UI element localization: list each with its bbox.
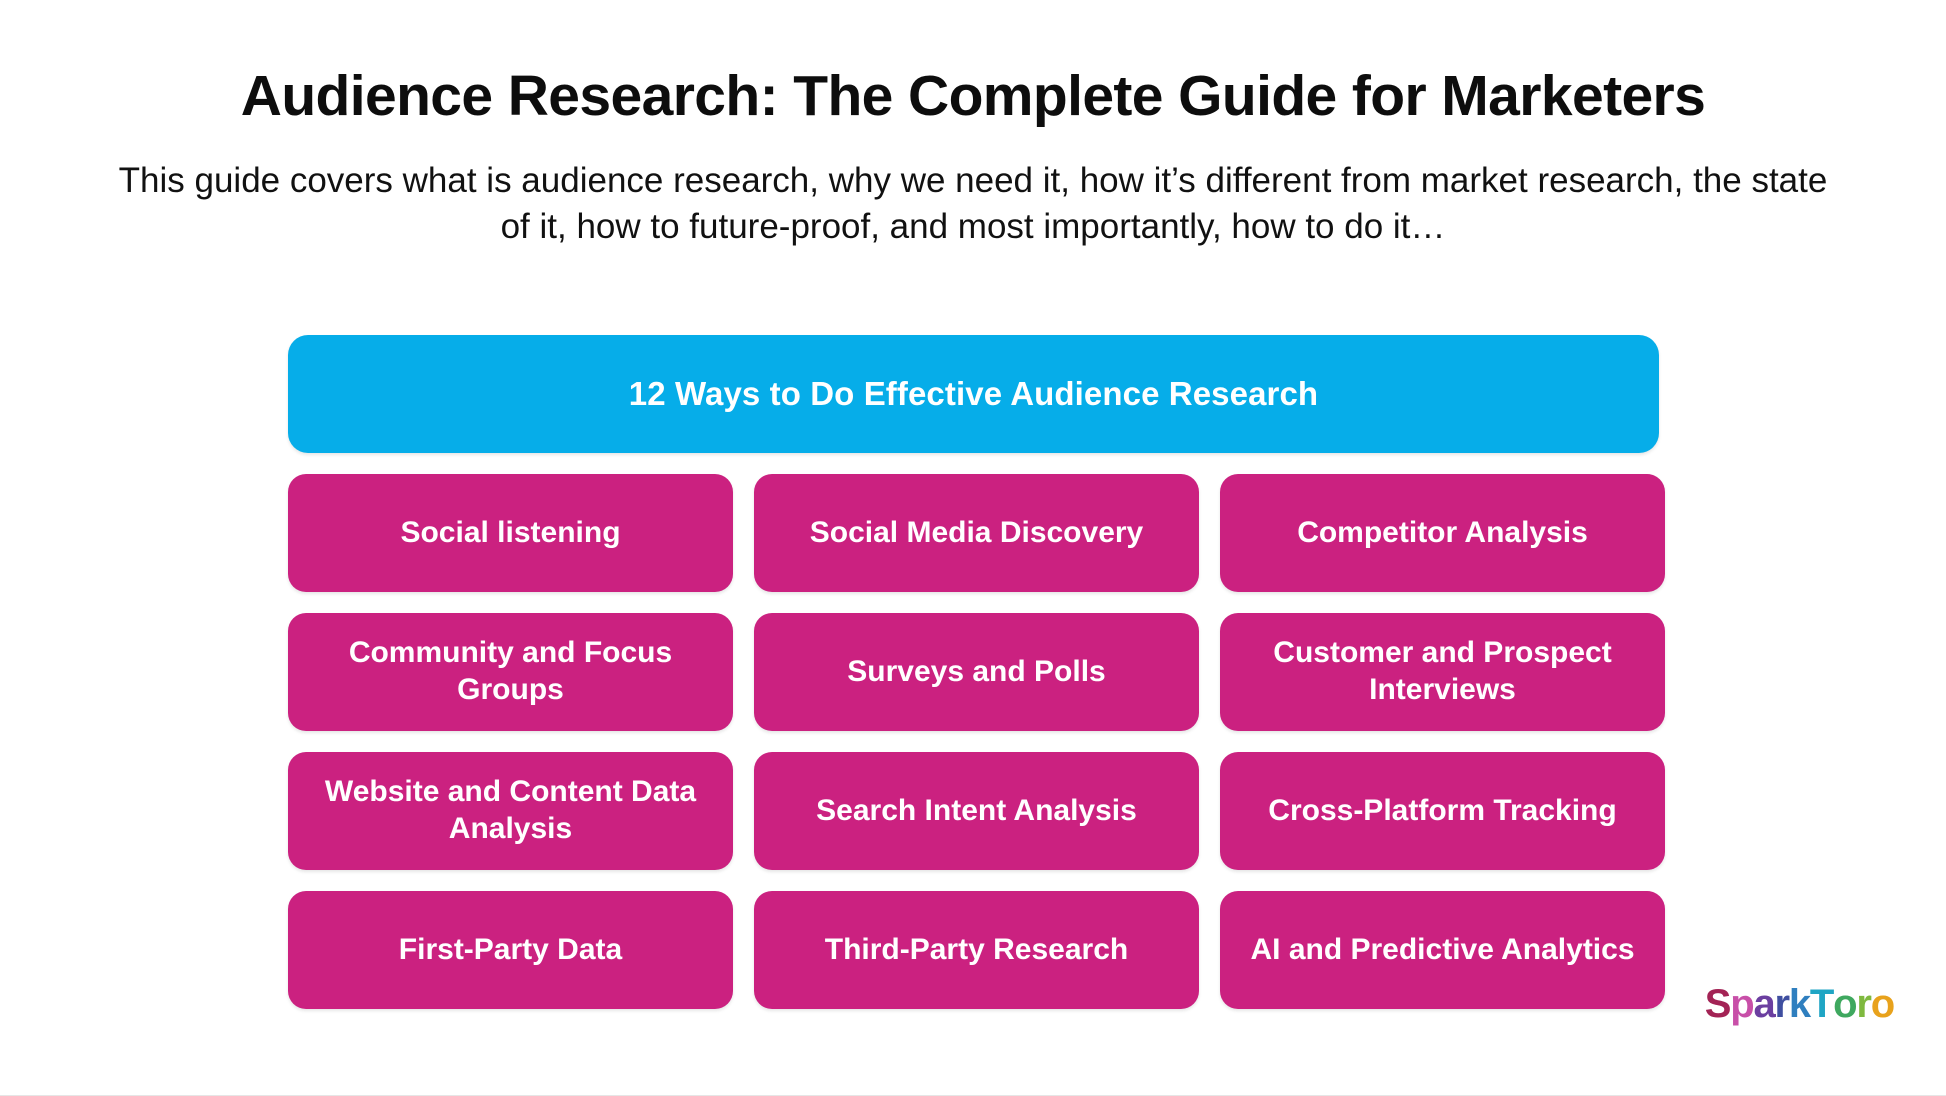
grid-cell-label: Customer and Prospect Interviews	[1234, 635, 1651, 708]
grid-cell-customer-and-prospect-interviews[interactable]: Customer and Prospect Interviews	[1220, 613, 1665, 731]
grid-cell-first-party-data[interactable]: First-Party Data	[288, 891, 733, 1009]
grid-cell-label: Social Media Discovery	[810, 515, 1144, 552]
grid-cell-label: AI and Predictive Analytics	[1250, 932, 1634, 969]
grid-cell-social-listening[interactable]: Social listening	[288, 474, 733, 592]
grid-cell-cross-platform-tracking[interactable]: Cross-Platform Tracking	[1220, 752, 1665, 870]
grid-cell-community-and-focus-groups[interactable]: Community and Focus Groups	[288, 613, 733, 731]
grid-cell-label: First-Party Data	[399, 932, 622, 969]
logo-letter: o	[1833, 984, 1856, 1024]
grid-cell-website-and-content-data-analysis[interactable]: Website and Content Data Analysis	[288, 752, 733, 870]
grid-cell-label: Website and Content Data Analysis	[302, 774, 719, 847]
grid-cell-label: Social listening	[400, 515, 620, 552]
grid-row: Website and Content Data Analysis Search…	[288, 752, 1659, 870]
grid-cell-label: Community and Focus Groups	[302, 635, 719, 708]
grid-cell-label: Search Intent Analysis	[816, 793, 1137, 830]
grid-cell-ai-and-predictive-analytics[interactable]: AI and Predictive Analytics	[1220, 891, 1665, 1009]
logo-letter: r	[1856, 984, 1870, 1024]
logo-letter: r	[1775, 984, 1789, 1024]
audience-research-grid: 12 Ways to Do Effective Audience Researc…	[288, 335, 1659, 1009]
logo-letter: k	[1789, 984, 1810, 1024]
logo-letter: S	[1705, 984, 1730, 1024]
page-title: Audience Research: The Complete Guide fo…	[0, 66, 1946, 128]
grid-cell-third-party-research[interactable]: Third-Party Research	[754, 891, 1199, 1009]
page-subtitle: This guide covers what is audience resea…	[58, 158, 1888, 250]
grid-cell-social-media-discovery[interactable]: Social Media Discovery	[754, 474, 1199, 592]
grid-cell-surveys-and-polls[interactable]: Surveys and Polls	[754, 613, 1199, 731]
grid-cell-competitor-analysis[interactable]: Competitor Analysis	[1220, 474, 1665, 592]
logo-letter: o	[1871, 984, 1894, 1024]
header: Audience Research: The Complete Guide fo…	[0, 0, 1946, 250]
grid-cell-search-intent-analysis[interactable]: Search Intent Analysis	[754, 752, 1199, 870]
grid-rows: Social listening Social Media Discovery …	[288, 474, 1659, 1009]
grid-row: Community and Focus Groups Surveys and P…	[288, 613, 1659, 731]
sparktoro-logo[interactable]: SparkToro	[1705, 984, 1894, 1024]
grid-banner-label: 12 Ways to Do Effective Audience Researc…	[629, 375, 1318, 413]
logo-letter: T	[1810, 984, 1833, 1024]
grid-row: First-Party Data Third-Party Research AI…	[288, 891, 1659, 1009]
slide-canvas: Audience Research: The Complete Guide fo…	[0, 0, 1946, 1096]
grid-banner: 12 Ways to Do Effective Audience Researc…	[288, 335, 1659, 453]
grid-cell-label: Surveys and Polls	[847, 654, 1105, 691]
grid-cell-label: Cross-Platform Tracking	[1268, 793, 1616, 830]
grid-cell-label: Third-Party Research	[825, 932, 1128, 969]
logo-letter: a	[1753, 984, 1774, 1024]
grid-cell-label: Competitor Analysis	[1297, 515, 1588, 552]
logo-letter: p	[1730, 984, 1753, 1024]
grid-row: Social listening Social Media Discovery …	[288, 474, 1659, 592]
